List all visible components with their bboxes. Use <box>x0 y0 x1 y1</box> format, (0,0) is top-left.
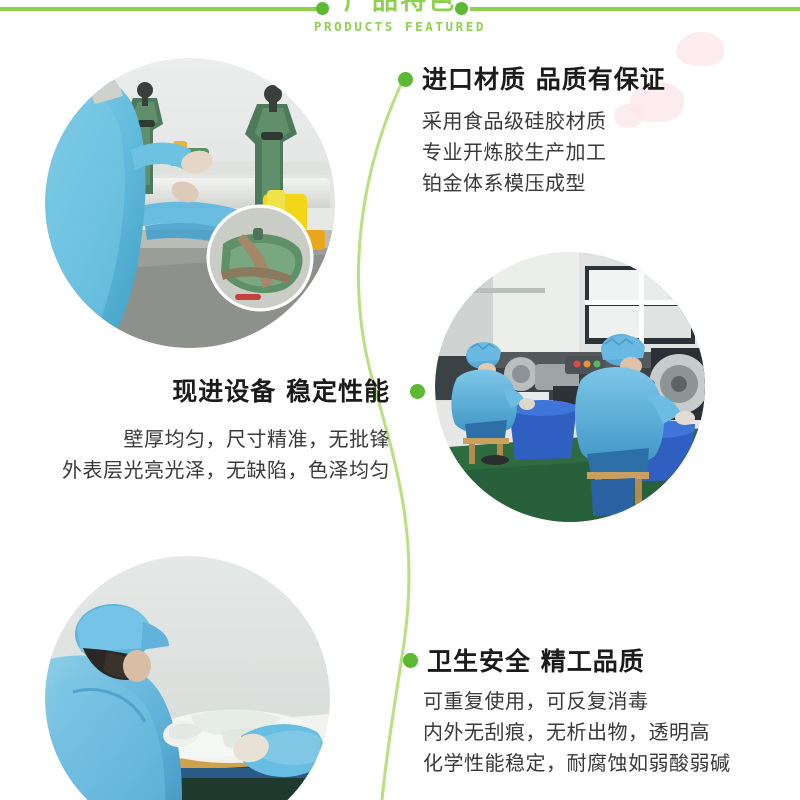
section-body: 可重复使用，可反复消毒 内外无刮痕，无析出物，透明高 化学性能稳定，耐腐蚀如弱酸… <box>423 686 731 779</box>
decorative-blob-icon <box>614 104 644 128</box>
photo-workshop-assembly <box>435 252 705 522</box>
section-advanced-equipment: 现进设备 稳定性能 壁厚均匀，尺寸精准，无批锋 外表层光亮光泽，无缺陷，色泽均匀 <box>30 372 390 486</box>
header-rule-left <box>0 7 318 11</box>
photo-inspection-table <box>45 556 330 800</box>
product-feature-banner: 产品特色 PRODUCTS FEATURED <box>0 0 800 800</box>
section-marker-dot-icon <box>403 653 418 668</box>
section-marker-dot-icon <box>398 72 413 87</box>
body-line: 化学性能稳定，耐腐蚀如弱酸弱碱 <box>423 748 731 779</box>
photo-rubber-mixing-mill <box>45 58 335 348</box>
decorative-blob-icon <box>676 32 724 66</box>
section-heading: 现进设备 稳定性能 <box>30 372 390 408</box>
body-line: 外表层光亮光泽，无缺陷，色泽均匀 <box>30 455 390 486</box>
section-marker-dot-icon <box>410 384 425 399</box>
body-line: 可重复使用，可反复消毒 <box>423 686 731 717</box>
section-body: 采用食品级硅胶材质 专业开炼胶生产加工 铂金体系模压成型 <box>422 106 607 199</box>
section-body: 壁厚均匀，尺寸精准，无批锋 外表层光亮光泽，无缺陷，色泽均匀 <box>30 424 390 486</box>
body-line: 专业开炼胶生产加工 <box>422 137 607 168</box>
header-rule-right <box>470 7 800 11</box>
section-heading: 卫生安全 精工品质 <box>427 642 645 678</box>
body-line: 壁厚均匀，尺寸精准，无批锋 <box>30 424 390 455</box>
page-subtitle: PRODUCTS FEATURED <box>250 19 550 34</box>
section-heading: 进口材质 品质有保证 <box>422 60 666 96</box>
body-line: 内外无刮痕，无析出物，透明高 <box>423 717 731 748</box>
body-line: 铂金体系模压成型 <box>422 168 607 199</box>
body-line: 采用食品级硅胶材质 <box>422 106 607 137</box>
header-dot-left <box>316 2 329 15</box>
page-title: 产品特色 <box>340 0 460 16</box>
header: 产品特色 PRODUCTS FEATURED <box>0 0 800 46</box>
